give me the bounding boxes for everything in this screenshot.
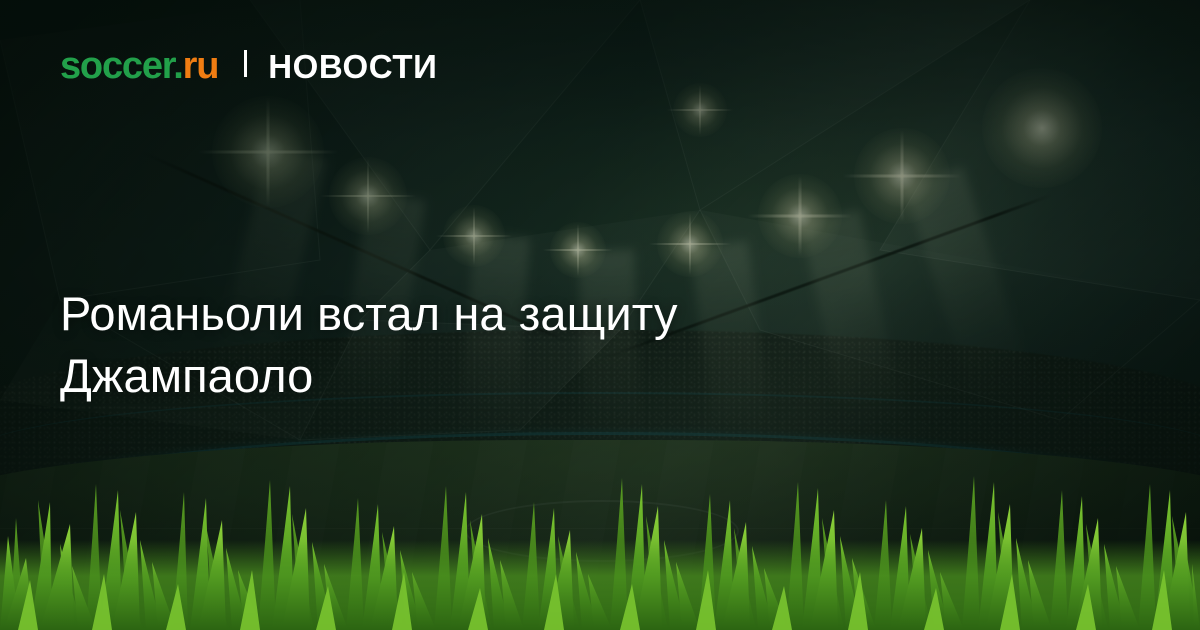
card-content: soccer.ru НОВОСТИ Романьоли встал на защ… [0,0,1200,630]
section-label-novosti: НОВОСТИ [268,50,437,83]
logo-dot: . [173,45,182,87]
brand-separator-bar [244,50,247,77]
social-share-card: soccer.ru НОВОСТИ Романьоли встал на защ… [0,0,1200,630]
logo-word-soccer: soccer [60,45,173,87]
soccer-ru-logo[interactable]: soccer.ru [60,47,218,85]
brand-bar[interactable]: soccer.ru НОВОСТИ [60,47,437,85]
article-headline: Романьоли встал на защиту Джампаоло [60,283,920,405]
logo-word-ru: ru [183,45,219,87]
